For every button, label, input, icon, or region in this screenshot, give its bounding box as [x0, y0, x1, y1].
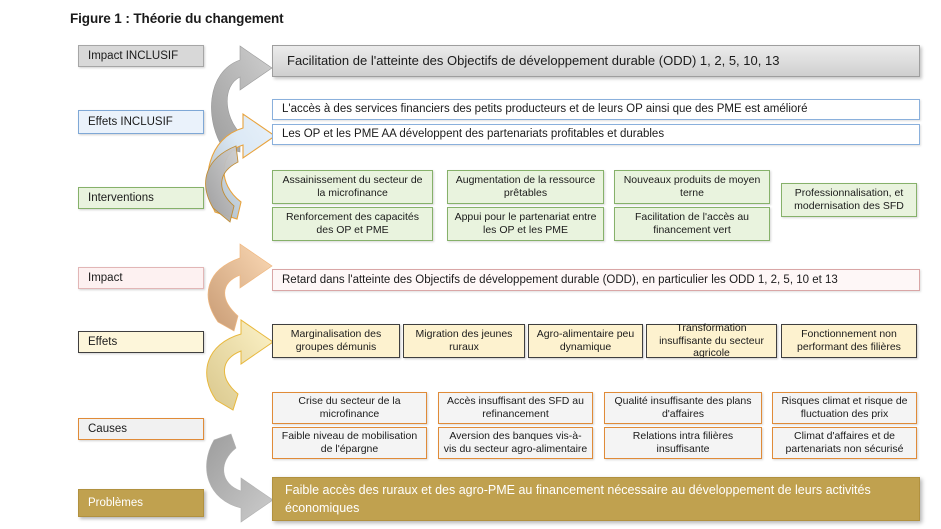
intervention-card-1: Assainissement du secteur de la microfin… — [272, 170, 433, 204]
causes-card-8: Climat d'affaires et de partenariats non… — [772, 427, 917, 459]
impact-banner: Retard dans l'atteinte des Objectifs de … — [272, 269, 920, 291]
curved-arrow-down-right-icon-causes — [207, 434, 273, 522]
effets-inclusif-item-2: Les OP et les PME AA développent des par… — [272, 124, 920, 145]
causes-card-5: Faible niveau de mobilisation de l'éparg… — [272, 427, 427, 459]
intervention-card-2: Augmentation de la ressource prêtables — [447, 170, 604, 204]
intervention-card-6: Appui pour le partenariat entre les OP e… — [447, 207, 604, 241]
intervention-card-4: Professionnalisation, et modernisation d… — [781, 183, 917, 217]
rail-label-impact[interactable]: Impact — [78, 267, 204, 289]
rail-label-effets[interactable]: Effets — [78, 331, 204, 353]
effets-card-2: Migration des jeunes ruraux — [403, 324, 525, 358]
effets-card-4: Transformation insuffisante du secteur a… — [646, 324, 777, 358]
intervention-card-7: Facilitation de l'accès au financement v… — [614, 207, 770, 241]
problemes-banner: Faible accès des ruraux et des agro-PME … — [272, 477, 920, 521]
effets-card-5: Fonctionnement non performant des filièr… — [781, 324, 917, 358]
causes-card-6: Aversion des banques vis-à-vis du secteu… — [438, 427, 593, 459]
rail-label-interventions[interactable]: Interventions — [78, 187, 204, 209]
rail-label-effets-inclusif[interactable]: Effets INCLUSIF — [78, 110, 204, 134]
curved-arrow-up-right-icon-effets-inclusif — [208, 114, 275, 219]
effets-card-3: Agro-alimentaire peu dynamique — [528, 324, 643, 358]
intervention-card-3: Nouveaux produits de moyen terne — [614, 170, 770, 204]
causes-card-3: Qualité insuffisante des plans d'affaire… — [604, 392, 762, 424]
curved-arrow-up-right-icon-impact — [208, 244, 272, 331]
rail-label-problemes[interactable]: Problèmes — [78, 489, 204, 517]
rail-label-causes[interactable]: Causes — [78, 418, 204, 440]
curved-arrow-up-right-icon-impact-inclusif — [211, 46, 272, 152]
causes-card-2: Accès insuffisant des SFD au refinanceme… — [438, 392, 593, 424]
effets-card-1: Marginalisation des groupes démunis — [272, 324, 400, 358]
causes-card-4: Risques climat et risque de fluctuation … — [772, 392, 917, 424]
theory-of-change-figure: Figure 1 : Théorie du changement — [0, 0, 941, 529]
causes-card-1: Crise du secteur de la microfinance — [272, 392, 427, 424]
rail-label-impact-inclusif[interactable]: Impact INCLUSIF — [78, 45, 204, 67]
page-title: Figure 1 : Théorie du changement — [70, 11, 284, 26]
curved-arrow-up-right-icon-interventions — [206, 146, 238, 222]
intervention-card-5: Renforcement des capacités des OP et PME — [272, 207, 433, 241]
curved-arrow-up-right-icon-effets — [207, 320, 273, 410]
effets-inclusif-item-1: L'accès à des services financiers des pe… — [272, 99, 920, 120]
impact-inclusif-banner: Facilitation de l'atteinte des Objectifs… — [272, 45, 920, 77]
causes-card-7: Relations intra filières insuffisante — [604, 427, 762, 459]
